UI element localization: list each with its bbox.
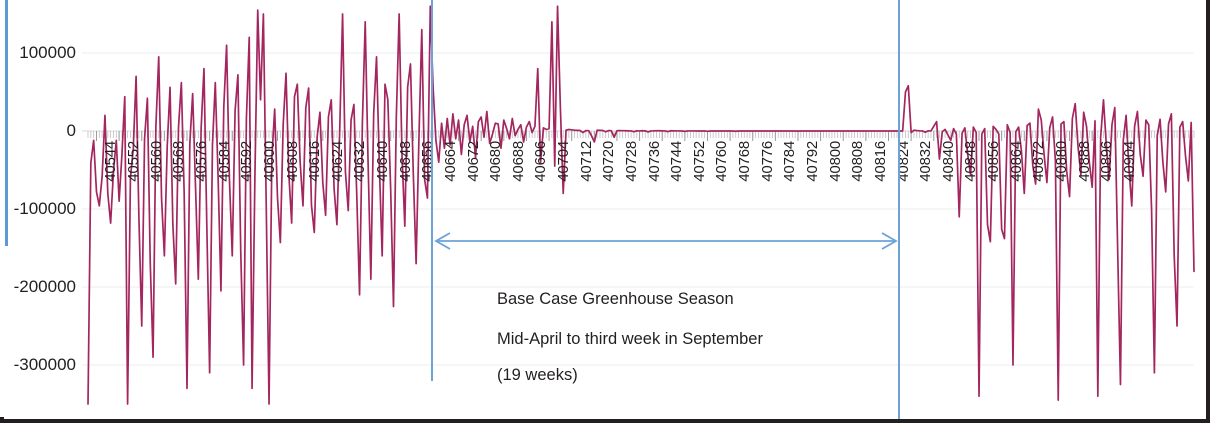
x-tick-label: 40832: [917, 141, 934, 182]
x-tick-label: 40600: [261, 141, 278, 182]
x-tick-label: 40848: [962, 141, 979, 182]
x-tick-label: 40904: [1121, 141, 1138, 182]
image-right-border: [1206, 0, 1210, 423]
x-tick-label: 40720: [600, 141, 617, 182]
x-tick-label: 40856: [985, 141, 1002, 182]
image-bottom-border: [0, 419, 1210, 423]
y-tick-label: -100000: [14, 199, 76, 219]
x-tick-label: 40576: [193, 141, 210, 182]
season-end-line: [898, 0, 900, 423]
y-tick-label: 0: [67, 121, 76, 141]
gridlines: [82, 53, 1194, 365]
y-tick-label: -300000: [14, 355, 76, 375]
x-tick-label: 40664: [442, 141, 459, 182]
annotation-line-1: Base Case Greenhouse Season: [497, 286, 734, 312]
x-tick-label: 40608: [284, 141, 301, 182]
x-tick-label: 40728: [623, 141, 640, 182]
x-tick-label: 40712: [578, 141, 595, 182]
x-tick-label: 40560: [148, 141, 165, 182]
x-tick-label: 40760: [713, 141, 730, 182]
annotation-line-3: (19 weeks): [497, 362, 578, 388]
x-tick-label: 40696: [532, 141, 549, 182]
x-tick-label: 40776: [759, 141, 776, 182]
x-tick-label: 40584: [216, 141, 233, 182]
x-tick-label: 40864: [1008, 141, 1025, 182]
x-tick-label: 40680: [487, 141, 504, 182]
x-tick-label: 40568: [170, 141, 187, 182]
x-tick-label: 40640: [374, 141, 391, 182]
x-tick-label: 40880: [1053, 141, 1070, 182]
x-tick-label: 40736: [646, 141, 663, 182]
season-span-arrow: [430, 230, 902, 252]
x-tick-label: 40552: [125, 141, 142, 182]
x-tick-label: 40648: [397, 141, 414, 182]
x-tick-label: 40816: [872, 141, 889, 182]
x-tick-label: 40624: [329, 141, 346, 182]
x-tick-label: 40840: [940, 141, 957, 182]
x-tick-label: 40632: [351, 141, 368, 182]
x-tick-label: 40672: [465, 141, 482, 182]
x-tick-label: 40704: [555, 141, 572, 182]
season-start-line: [431, 0, 433, 381]
x-tick-label: 40808: [849, 141, 866, 182]
x-tick-label: 40616: [306, 141, 323, 182]
x-tick-label: 40792: [804, 141, 821, 182]
x-tick-label: 40872: [1030, 141, 1047, 182]
x-tick-label: 40744: [668, 141, 685, 182]
chart-screenshot: 1000000-100000-200000-300000 40544405524…: [0, 0, 1210, 423]
x-tick-label: 40896: [1098, 141, 1115, 182]
x-tick-label: 40544: [102, 141, 119, 182]
x-tick-label: 40800: [827, 141, 844, 182]
x-tick-label: 40592: [238, 141, 255, 182]
y-tick-label: 100000: [19, 43, 76, 63]
x-tick-label: 40752: [691, 141, 708, 182]
x-minor-ticks: [88, 131, 1194, 138]
y-tick-label: -200000: [14, 277, 76, 297]
x-tick-label: 40768: [736, 141, 753, 182]
annotation-line-2: Mid-April to third week in September: [497, 326, 763, 352]
x-tick-label: 40688: [510, 141, 527, 182]
x-tick-label: 40888: [1076, 141, 1093, 182]
x-tick-label: 40656: [419, 141, 436, 182]
image-bottom-left-border: [0, 417, 4, 423]
line-chart-plot: [0, 0, 1210, 423]
x-tick-label: 40784: [781, 141, 798, 182]
y-axis-tick-labels: 1000000-100000-200000-300000: [0, 0, 76, 423]
